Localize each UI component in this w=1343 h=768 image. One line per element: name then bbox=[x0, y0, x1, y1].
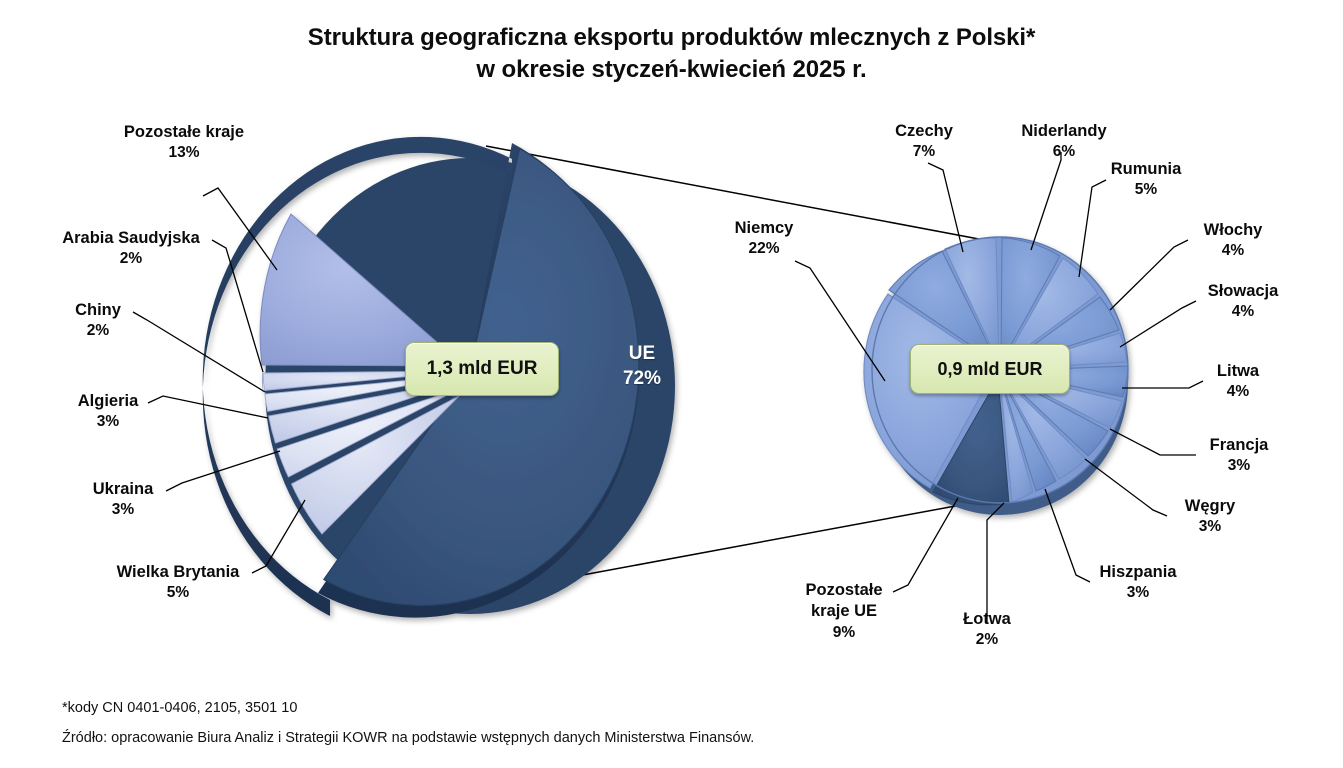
label-litwa-name: Litwa bbox=[1217, 362, 1259, 380]
label-rumunia-pct: 5% bbox=[1096, 180, 1196, 200]
label-francja: Francja 3% bbox=[1192, 435, 1286, 475]
label-arabia-saudyjska: Arabia Saudyjska 2% bbox=[48, 228, 214, 268]
label-rumunia: Rumunia 5% bbox=[1096, 159, 1196, 199]
label-pozostale-kraje-pct: 13% bbox=[116, 143, 252, 163]
label-arabia-saudyjska-pct: 2% bbox=[48, 249, 214, 269]
leader-wlochy bbox=[1110, 240, 1188, 310]
label-niemcy-pct: 22% bbox=[722, 239, 806, 259]
label-francja-pct: 3% bbox=[1192, 456, 1286, 476]
leader-lotwa bbox=[987, 503, 1004, 623]
label-niemcy: Niemcy 22% bbox=[722, 218, 806, 258]
leader-niderlandy bbox=[1031, 152, 1061, 250]
label-ukraina: Ukraina 3% bbox=[80, 479, 166, 519]
leader-chiny bbox=[133, 312, 265, 392]
label-hiszpania-name: Hiszpania bbox=[1099, 563, 1176, 581]
chart-figure: Struktura geograficzna eksportu produktó… bbox=[0, 0, 1343, 768]
label-lotwa-name: Łotwa bbox=[963, 610, 1011, 628]
leader-algieria bbox=[148, 396, 268, 418]
label-wlochy-pct: 4% bbox=[1186, 241, 1280, 261]
label-ue: UE 72% bbox=[600, 342, 684, 391]
label-wegry-pct: 3% bbox=[1164, 517, 1256, 537]
label-wielka-brytania-pct: 5% bbox=[104, 583, 252, 603]
label-ukraina-pct: 3% bbox=[80, 500, 166, 520]
label-wielka-brytania: Wielka Brytania 5% bbox=[104, 562, 252, 602]
label-czechy: Czechy 7% bbox=[884, 121, 964, 161]
label-arabia-saudyjska-name: Arabia Saudyjska bbox=[62, 229, 200, 247]
label-pozostale-kraje-ue: Pozostałe kraje UE 9% bbox=[793, 580, 895, 643]
label-niderlandy: Niderlandy 6% bbox=[1002, 121, 1126, 161]
label-algieria-pct: 3% bbox=[66, 412, 150, 432]
leader-wegry bbox=[1085, 459, 1167, 516]
leader-francja bbox=[1110, 429, 1196, 455]
label-wegry-name: Węgry bbox=[1185, 497, 1235, 515]
label-ue-name: UE bbox=[629, 343, 655, 364]
label-hiszpania-pct: 3% bbox=[1080, 583, 1196, 603]
label-lotwa-pct: 2% bbox=[945, 630, 1029, 650]
label-pozostale-kraje: Pozostałe kraje 13% bbox=[116, 122, 252, 162]
label-chiny-name: Chiny bbox=[75, 301, 121, 319]
label-francja-name: Francja bbox=[1210, 436, 1269, 454]
label-litwa-pct: 4% bbox=[1200, 382, 1276, 402]
label-pozostale-kraje-ue-pct: 9% bbox=[793, 623, 895, 643]
label-wlochy-name: Włochy bbox=[1204, 221, 1263, 239]
label-ukraina-name: Ukraina bbox=[93, 480, 154, 498]
callout-left-total-text: 1,3 mld EUR bbox=[427, 358, 538, 380]
label-czechy-name: Czechy bbox=[895, 122, 953, 140]
label-ue-pct: 72% bbox=[600, 367, 684, 392]
leader-litwa bbox=[1122, 381, 1203, 388]
label-slowacja-pct: 4% bbox=[1190, 302, 1296, 322]
callout-left-total: 1,3 mld EUR bbox=[405, 342, 559, 396]
label-hiszpania: Hiszpania 3% bbox=[1080, 562, 1196, 602]
footnote-codes: *kody CN 0401-0406, 2105, 3501 10 bbox=[62, 700, 297, 716]
leader-czechy bbox=[928, 163, 963, 252]
label-niderlandy-name: Niderlandy bbox=[1021, 122, 1106, 140]
label-pozostale-kraje-name: Pozostałe kraje bbox=[124, 123, 244, 141]
label-rumunia-name: Rumunia bbox=[1111, 160, 1182, 178]
leader-slowacja bbox=[1120, 301, 1196, 347]
label-slowacja-name: Słowacja bbox=[1208, 282, 1279, 300]
label-pozostale-kraje-ue-name: Pozostałe kraje UE bbox=[805, 581, 882, 620]
label-algieria: Algieria 3% bbox=[66, 391, 150, 431]
label-wielka-brytania-name: Wielka Brytania bbox=[117, 563, 240, 581]
leader-wielka-brytania bbox=[252, 500, 305, 573]
label-czechy-pct: 7% bbox=[884, 142, 964, 162]
label-litwa: Litwa 4% bbox=[1200, 361, 1276, 401]
label-niemcy-name: Niemcy bbox=[735, 219, 794, 237]
label-lotwa: Łotwa 2% bbox=[945, 609, 1029, 649]
label-slowacja: Słowacja 4% bbox=[1190, 281, 1296, 321]
label-wegry: Węgry 3% bbox=[1164, 496, 1256, 536]
callout-right-total-text: 0,9 mld EUR bbox=[937, 359, 1042, 380]
callout-right-total: 0,9 mld EUR bbox=[910, 344, 1070, 394]
label-wlochy: Włochy 4% bbox=[1186, 220, 1280, 260]
label-chiny-pct: 2% bbox=[62, 321, 134, 341]
footnote-source: Źródło: opracowanie Biura Analiz i Strat… bbox=[62, 730, 754, 746]
label-algieria-name: Algieria bbox=[78, 392, 139, 410]
label-chiny: Chiny 2% bbox=[62, 300, 134, 340]
